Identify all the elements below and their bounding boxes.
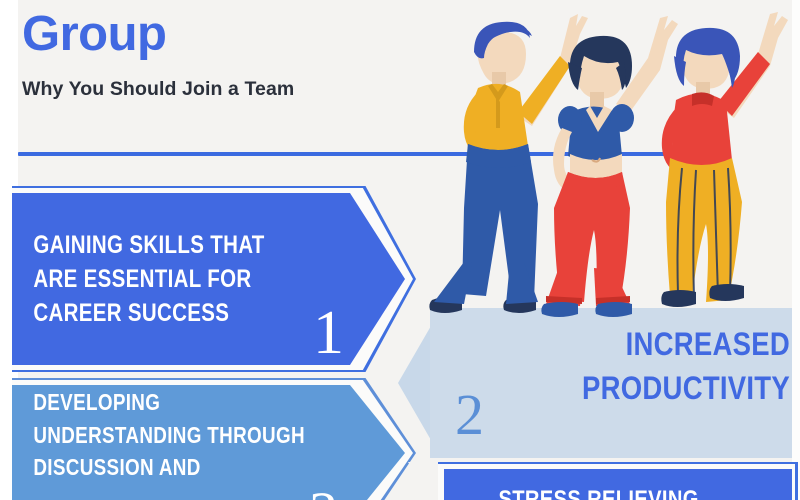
banner-1-content: Gaining skills that are essential for ca… [12, 186, 416, 372]
productivity-number: 2 [455, 386, 484, 444]
banner-2-content: Developing understanding through discuss… [12, 370, 416, 500]
page-subtitle: Why You Should Join a Team [22, 78, 452, 101]
figure-right [661, 12, 788, 307]
three-dancing-people-illustration [420, 0, 800, 340]
banner-1-label: Gaining skills that are essential for ca… [12, 228, 265, 330]
benefit-banner-1[interactable]: Gaining skills that are essential for ca… [12, 186, 416, 372]
productivity-label: Increased productivity [575, 322, 790, 410]
benefit-banner-3[interactable]: Stress relieving [438, 462, 798, 500]
page-title: Group [22, 8, 452, 62]
banner-3-label: Stress relieving [438, 462, 699, 500]
benefit-banner-2[interactable]: Developing understanding through discuss… [12, 378, 416, 500]
banner-2-label: Developing understanding through discuss… [12, 386, 305, 484]
productivity-block: Increased productivity [540, 322, 790, 410]
infographic-canvas: Group Why You Should Join a Team [0, 0, 800, 500]
header: Group Why You Should Join a Team [22, 8, 452, 101]
banner-3-content: Stress relieving [438, 462, 798, 500]
